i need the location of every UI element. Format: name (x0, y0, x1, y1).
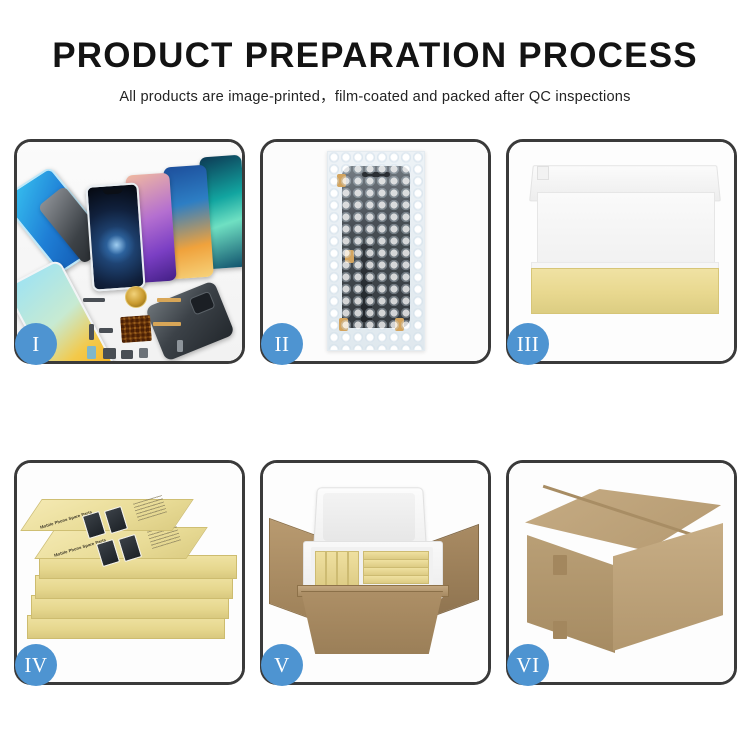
page-subtitle: All products are image-printed，film-coat… (0, 85, 750, 106)
tape-tab-bottom-right (395, 318, 404, 331)
retail-box-stack: Mobile Phone Spare Parts Mobile Phone Sp… (23, 483, 238, 673)
step-badge-1: I (15, 323, 57, 365)
wrapped-phone-screen (342, 166, 410, 328)
step-panel-6[interactable]: VI (506, 460, 737, 685)
tape-tab-bottom-left (339, 318, 348, 331)
spare-parts-cluster (83, 294, 203, 361)
tape-tab-mid (345, 250, 354, 263)
carton-tape-upper (553, 555, 567, 575)
part-bracket (89, 324, 94, 340)
box-lid-tab-icon (537, 166, 549, 180)
box-yellow-body (531, 268, 719, 314)
phone-notch-icon (102, 188, 122, 194)
flex-cable-2 (153, 322, 181, 326)
step-panel-5[interactable]: V (260, 460, 491, 685)
page-title: PRODUCT PREPARATION PROCESS (0, 38, 750, 75)
phone-front-glass (85, 182, 145, 291)
process-step-grid: I II (14, 139, 737, 685)
packed-box-3 (337, 551, 348, 589)
header: PRODUCT PREPARATION PROCESS All products… (0, 0, 750, 106)
step-badge-6: VI (507, 644, 549, 686)
step-panel-4[interactable]: Mobile Phone Spare Parts Mobile Phone Sp… (14, 460, 245, 685)
part-strip (83, 298, 105, 302)
step-badge-3: III (507, 323, 549, 365)
foam-lid-inner-face (323, 493, 415, 541)
packed-box-8 (363, 575, 429, 584)
screen-flex-cable (361, 244, 372, 322)
product-preparation-process-page: PRODUCT PREPARATION PROCESS All products… (0, 0, 750, 750)
step-badge-4: IV (15, 644, 57, 686)
part-button (139, 348, 148, 358)
packed-box-4 (348, 551, 359, 589)
wireless-coil-part (125, 286, 147, 308)
part-screw-pin (177, 340, 183, 352)
part-taptic (121, 350, 133, 359)
step-panel-2[interactable]: II (260, 139, 491, 364)
part-connector (99, 328, 113, 333)
logic-board-part (120, 315, 152, 343)
packed-box-2 (326, 551, 337, 589)
carton-front-face (301, 591, 443, 654)
packed-box-1 (315, 551, 326, 589)
carton-tape-lower (553, 621, 567, 639)
part-speaker (103, 348, 116, 359)
step-badge-5: V (261, 644, 303, 686)
step-panel-1[interactable]: I (14, 139, 245, 364)
tape-tab-top (337, 174, 346, 187)
part-camera (87, 346, 96, 359)
box-inner-back-wall (537, 192, 715, 272)
step-panel-3[interactable]: III (506, 139, 737, 364)
step-badge-2: II (261, 323, 303, 365)
flex-cable-1 (157, 298, 181, 302)
wallpaper-burst (95, 224, 138, 267)
